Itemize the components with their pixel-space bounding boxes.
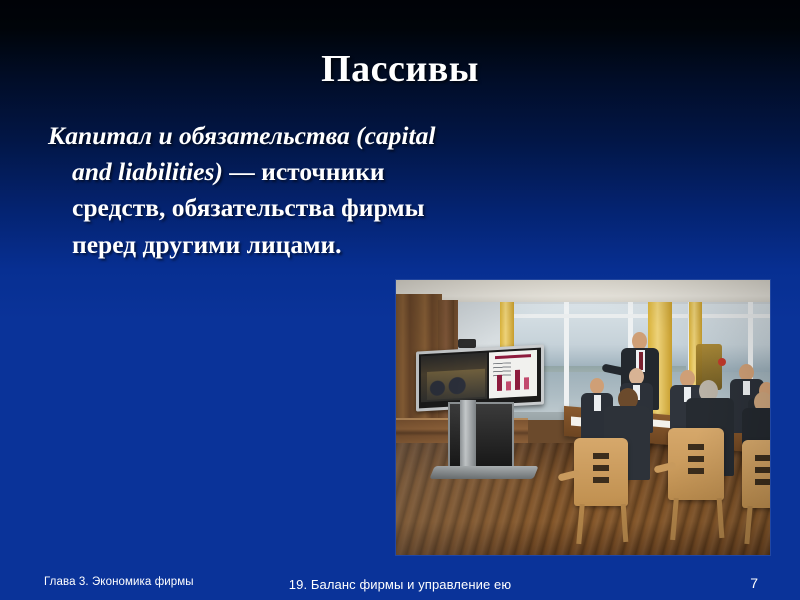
conference-chair (668, 428, 724, 500)
screen-bar-chart (497, 367, 529, 391)
video-camera (458, 339, 476, 348)
presenter-tie (639, 352, 643, 370)
chart-bar (515, 370, 520, 390)
window-transom (504, 314, 770, 318)
chair-back-slots (688, 444, 704, 478)
chair-back-slots (755, 455, 770, 489)
slide-page-number: 7 (750, 575, 758, 591)
chair-back-slots (593, 453, 609, 487)
window-mullion (564, 302, 569, 422)
conference-room-photo (396, 280, 770, 555)
video-feed-screen (421, 353, 487, 403)
presentation-slide: Пассивы Капитал и обязательства (capital… (0, 0, 800, 600)
decor-flower (718, 358, 726, 366)
page-title: Пассивы (0, 49, 800, 91)
av-equipment-cabinet (448, 402, 514, 470)
chart-bar (497, 375, 502, 391)
footer-section-label: 19. Баланс фирмы и управление ею (0, 577, 800, 592)
seated-person-shirt (743, 381, 750, 395)
presentation-screen (489, 350, 537, 399)
screen-chart-title (495, 354, 531, 359)
photo-scene (396, 280, 770, 555)
seated-person-shirt (594, 395, 601, 411)
body-paragraph: Капитал и обязательства (capital and lia… (48, 118, 450, 263)
remote-participants (427, 369, 485, 400)
seated-person-head (590, 378, 604, 394)
monitor-stand-base (429, 466, 538, 479)
conference-chair (574, 438, 628, 506)
conference-chair (742, 440, 770, 508)
chart-bar (506, 381, 511, 390)
chart-bar (524, 377, 529, 389)
body-text-block: Капитал и обязательства (capital and lia… (48, 118, 450, 263)
monitor-stand-column (460, 400, 476, 472)
